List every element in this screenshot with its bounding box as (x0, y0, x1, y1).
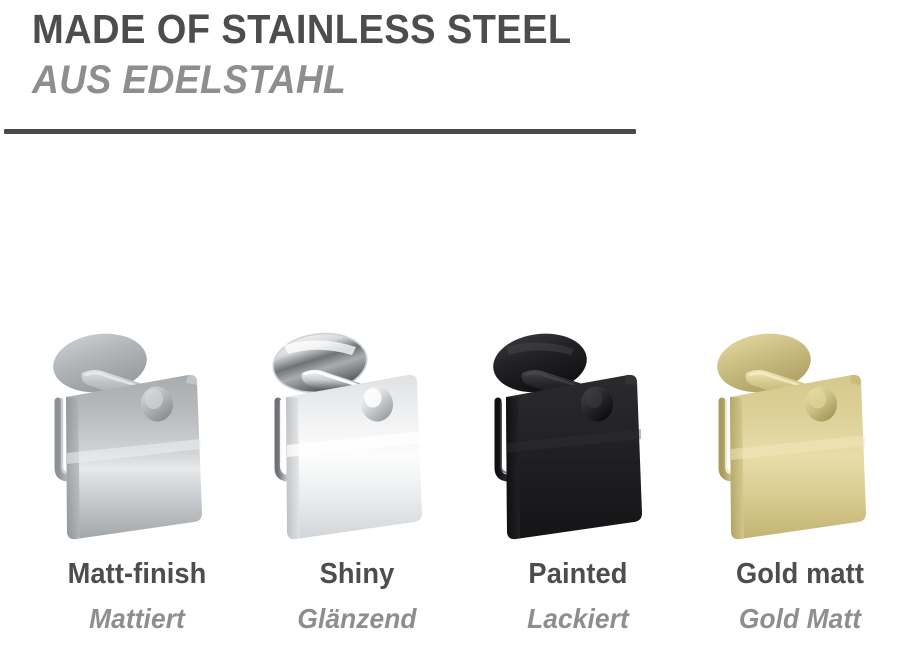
toilet-paper-holder-icon (700, 325, 900, 550)
page-title-german: AUS EDELSTAHL (32, 52, 813, 103)
caption-label-english: Matt-finish (29, 556, 245, 592)
header-divider-rule (4, 129, 636, 134)
product-variant-matt-finish (36, 325, 236, 550)
caption-matt-finish: Matt-finish Mattiert (22, 556, 252, 638)
toilet-paper-holder-icon (476, 325, 676, 550)
product-variant-painted (476, 325, 676, 550)
page-title-english: MADE OF STAINLESS STEEL (32, 0, 813, 52)
toilet-paper-holder-icon (256, 325, 456, 550)
header-block: MADE OF STAINLESS STEEL AUS EDELSTAHL (32, 0, 872, 103)
caption-label-english: Painted (470, 556, 686, 592)
caption-painted: Painted Lackiert (463, 556, 693, 638)
product-variant-shiny (256, 325, 456, 550)
caption-label-english: Shiny (249, 556, 465, 592)
caption-label-german: Lackiert (470, 592, 686, 638)
product-variant-row (0, 325, 900, 555)
caption-label-english: Gold matt (692, 556, 900, 592)
toilet-paper-holder-icon (36, 325, 236, 550)
caption-shiny: Shiny Glänzend (242, 556, 472, 638)
product-caption-row: Matt-finish Mattiert Shiny Glänzend Pain… (0, 556, 900, 651)
caption-label-german: Mattiert (29, 592, 245, 638)
product-variant-gold-matt (700, 325, 900, 550)
caption-label-german: Gold Matt (692, 592, 900, 638)
caption-label-german: Glänzend (249, 592, 465, 638)
caption-gold-matt: Gold matt Gold Matt (685, 556, 900, 638)
